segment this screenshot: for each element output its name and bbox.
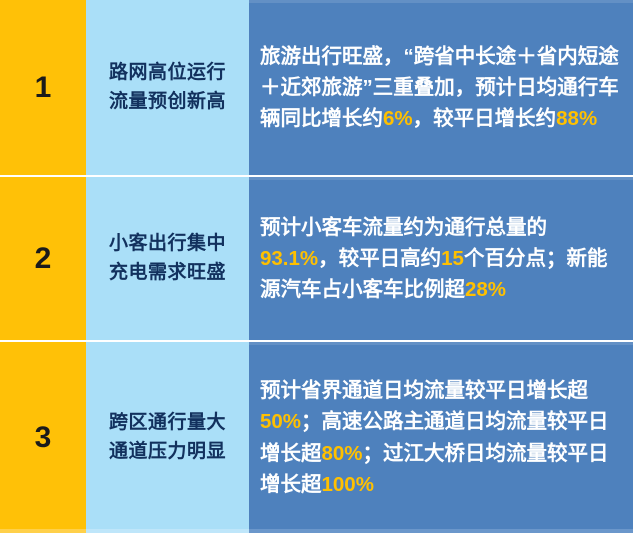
highlighted-metric: 88%	[556, 107, 597, 130]
row-number-cell: 3	[0, 342, 86, 533]
highlighted-metric: 80%	[322, 442, 363, 465]
row-headline-cell: 小客出行集中 充电需求旺盛	[86, 177, 249, 340]
highlighted-metric: 50%	[260, 410, 301, 433]
infographic-row: 3 跨区通行量大 通道压力明显 预计省界通道日均流量较平日增长超50%；高速公路…	[0, 342, 633, 533]
row-number-cell: 2	[0, 177, 86, 340]
highlighted-metric: 6%	[383, 107, 413, 130]
row-number-cell: 1	[0, 0, 86, 175]
row-body-text: 预计小客车流量约为通行总量的93.1%，较平日高约15个百分点；新能源汽车占小客…	[260, 212, 625, 305]
row-body-cell: 预计省界通道日均流量较平日增长超50%；高速公路主通道日均流量较平日增长超80%…	[249, 342, 633, 533]
body-text-segment: ，较平日增长约	[413, 107, 557, 130]
row-number-label: 2	[35, 244, 52, 274]
highlighted-metric: 100%	[322, 473, 374, 496]
row-headline-label: 跨区通行量大 通道压力明显	[109, 409, 226, 466]
bottom-edge-light-blue	[86, 529, 249, 533]
body-text-segment: ，较平日高约	[318, 247, 441, 270]
row-headline-label: 路网高位运行 流量预创新高	[109, 59, 226, 116]
row-headline-cell: 跨区通行量大 通道压力明显	[86, 342, 249, 533]
bottom-edge-dark-blue	[249, 529, 633, 533]
row-body-text: 预计省界通道日均流量较平日增长超50%；高速公路主通道日均流量较平日增长超80%…	[260, 375, 625, 500]
row-number-label: 3	[35, 423, 52, 453]
bottom-edge-strip	[0, 529, 633, 533]
row-body-text: 旅游出行旺盛，“跨省中长途＋省内短途＋近郊旅游”三重叠加，预计日均通行车辆同比增…	[260, 41, 625, 134]
infographic-row: 2 小客出行集中 充电需求旺盛 预计小客车流量约为通行总量的93.1%，较平日高…	[0, 177, 633, 340]
infographic-row: 1 路网高位运行 流量预创新高 旅游出行旺盛，“跨省中长途＋省内短途＋近郊旅游”…	[0, 0, 633, 175]
bottom-edge-yellow	[0, 529, 86, 533]
highlighted-metric: 28%	[465, 278, 506, 301]
body-text-segment: 预计小客车流量约为通行总量的	[260, 216, 547, 239]
row-headline-label: 小客出行集中 充电需求旺盛	[109, 230, 226, 287]
traffic-forecast-infographic: 1 路网高位运行 流量预创新高 旅游出行旺盛，“跨省中长途＋省内短途＋近郊旅游”…	[0, 0, 633, 533]
highlighted-metric: 93.1%	[260, 247, 318, 270]
row-headline-cell: 路网高位运行 流量预创新高	[86, 0, 249, 175]
body-text-segment: 预计省界通道日均流量较平日增长超	[260, 379, 588, 402]
highlighted-metric: 15	[441, 247, 464, 270]
row-body-cell: 旅游出行旺盛，“跨省中长途＋省内短途＋近郊旅游”三重叠加，预计日均通行车辆同比增…	[249, 0, 633, 175]
row-number-label: 1	[35, 73, 52, 103]
row-body-cell: 预计小客车流量约为通行总量的93.1%，较平日高约15个百分点；新能源汽车占小客…	[249, 177, 633, 340]
